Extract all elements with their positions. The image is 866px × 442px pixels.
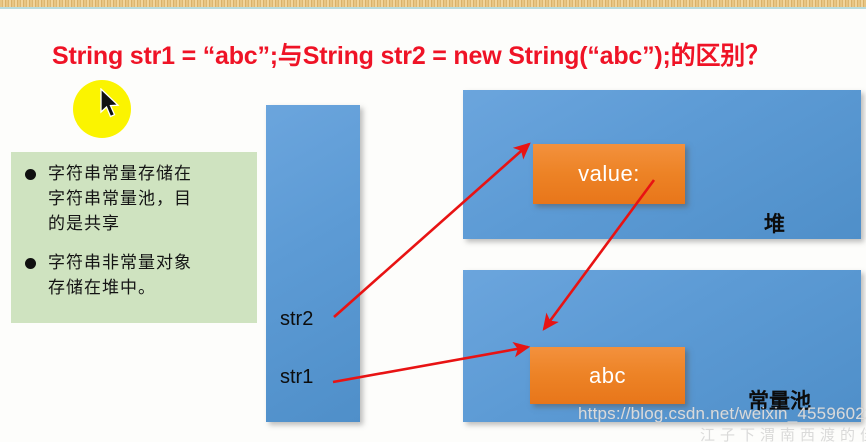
list-item: 字符串常量存储在 字符串常量池，目 的是共享	[19, 162, 249, 237]
stack-entry-str1: str1	[280, 366, 313, 389]
note-text: 字符串非常量对象 存储在堆中。	[48, 251, 192, 301]
list-item: 字符串非常量对象 存储在堆中。	[19, 251, 249, 301]
constant-pool-object-abc: abc	[530, 347, 685, 404]
watermark-secondary: 江子下渭南西渡的佳话	[700, 424, 866, 442]
heap-region-label: 堆	[764, 208, 785, 238]
mouse-cursor-icon	[99, 88, 121, 120]
heap-object-value: value:	[533, 144, 685, 204]
bullet-icon	[25, 258, 36, 269]
bullet-icon	[25, 169, 36, 180]
page-title: String str1 = “abc”;与String str2 = new S…	[52, 36, 852, 72]
slide-top-texture-strip	[0, 0, 866, 7]
presentation-slide: String str1 = “abc”;与String str2 = new S…	[0, 0, 866, 442]
watermark-url: https://blog.csdn.net/weixin_45596022	[578, 404, 866, 424]
notes-callout-box: 字符串常量存储在 字符串常量池，目 的是共享 字符串非常量对象 存储在堆中。	[11, 152, 257, 323]
stack-entry-str2: str2	[280, 308, 313, 331]
slide-top-accent-rule	[0, 7, 866, 9]
note-text: 字符串常量存储在 字符串常量池，目 的是共享	[48, 162, 192, 237]
